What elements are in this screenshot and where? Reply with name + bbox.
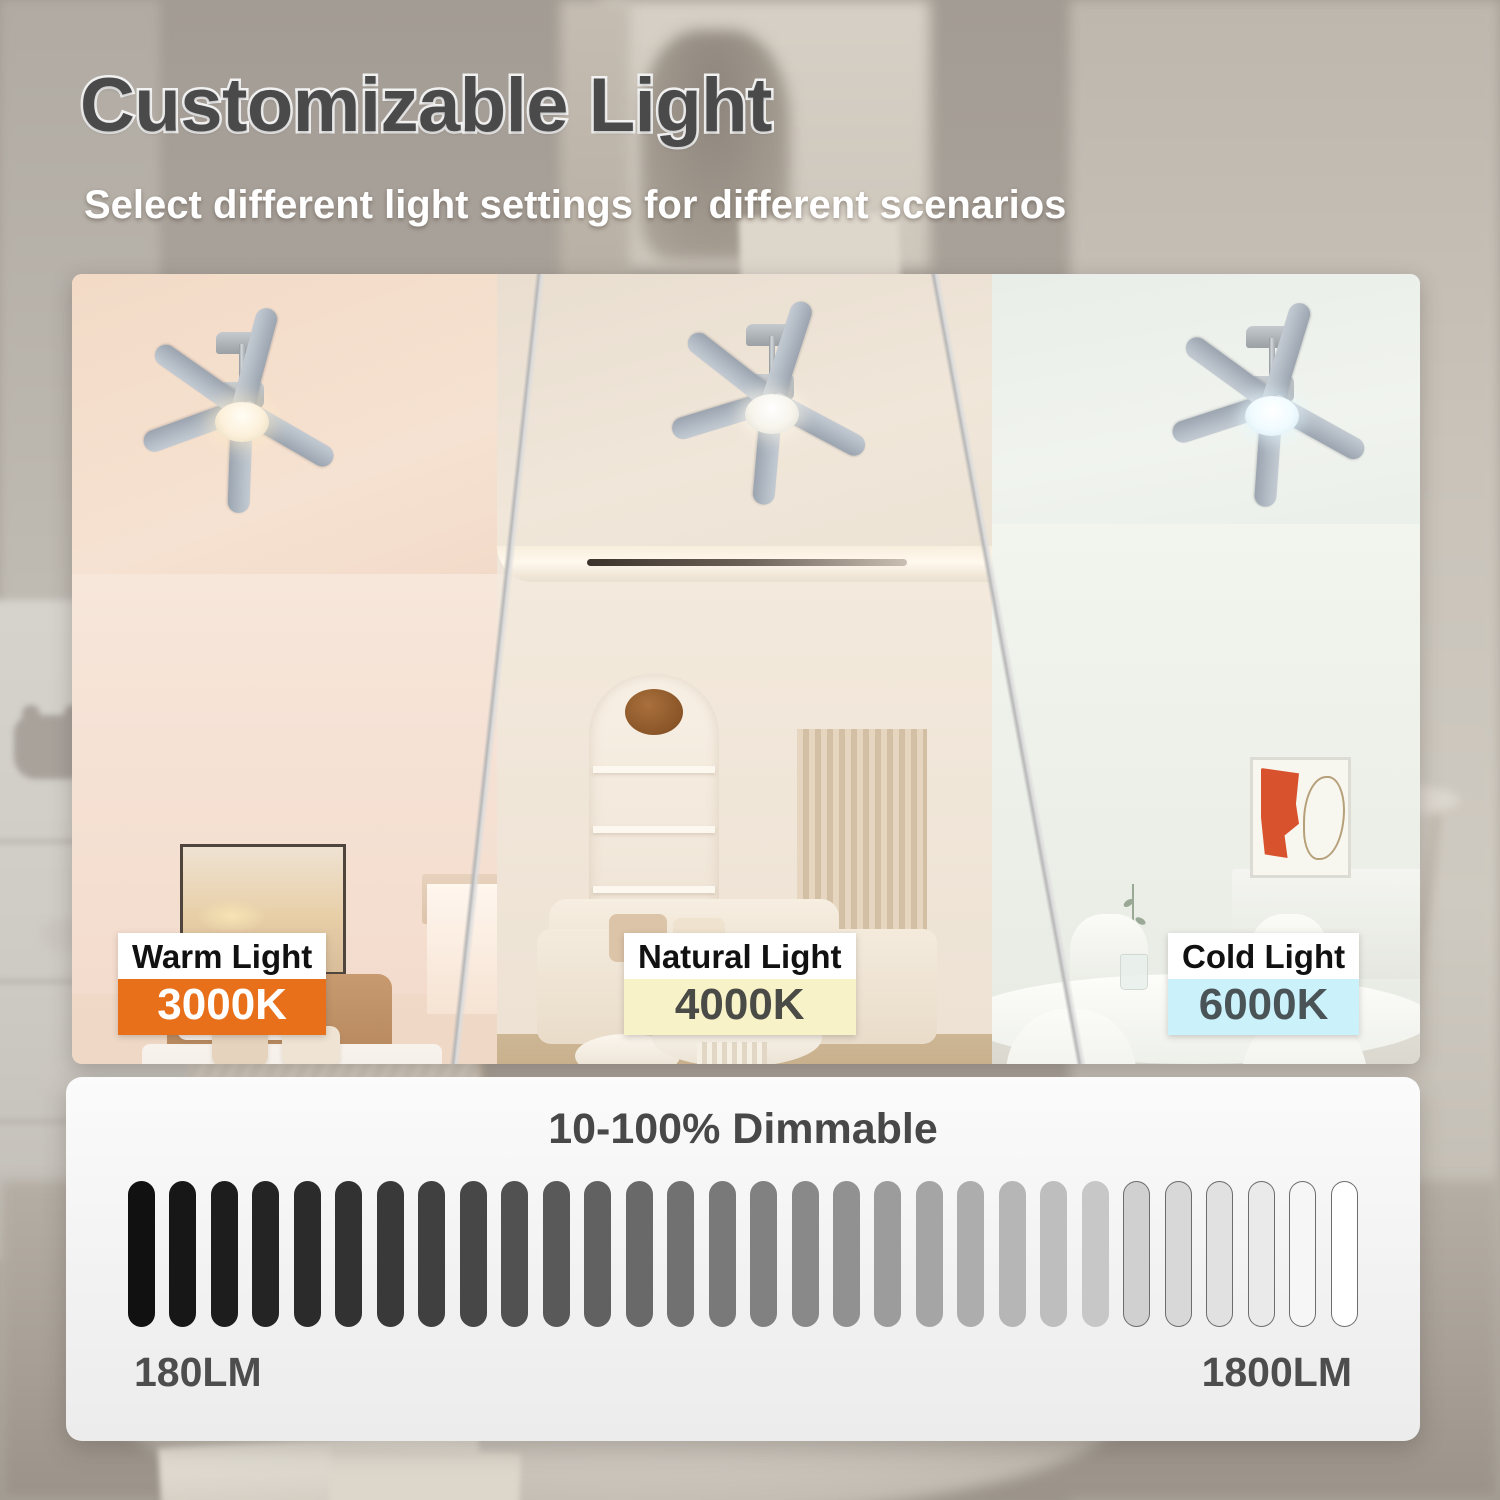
brightness-step-6[interactable] bbox=[335, 1181, 362, 1327]
brightness-step-1[interactable] bbox=[128, 1181, 155, 1327]
dimmable-card: 10-100% Dimmable 180LM 1800LM bbox=[66, 1077, 1420, 1441]
brightness-step-14[interactable] bbox=[667, 1181, 694, 1327]
brightness-step-26[interactable] bbox=[1165, 1181, 1192, 1327]
brightness-step-25[interactable] bbox=[1123, 1181, 1150, 1327]
temp-badge-cold-name: Cold Light bbox=[1168, 933, 1359, 979]
ceiling-fan-cold bbox=[1162, 338, 1382, 468]
brightness-step-27[interactable] bbox=[1206, 1181, 1233, 1327]
lighting-scenes-triptych: Warm Light 3000K Natural Light 4000K Col… bbox=[72, 274, 1420, 1064]
temp-badge-warm-name: Warm Light bbox=[118, 933, 326, 979]
temp-badge-natural-name: Natural Light bbox=[624, 933, 856, 979]
ceiling-fan-natural bbox=[662, 336, 882, 466]
brightness-step-21[interactable] bbox=[957, 1181, 984, 1327]
fan-light-kit bbox=[745, 394, 799, 434]
lumen-min-label: 180LM bbox=[134, 1349, 262, 1396]
backdrop-book-page bbox=[329, 1447, 521, 1500]
brightness-step-18[interactable] bbox=[833, 1181, 860, 1327]
brightness-step-24[interactable] bbox=[1082, 1181, 1109, 1327]
brightness-step-12[interactable] bbox=[584, 1181, 611, 1327]
brightness-step-8[interactable] bbox=[418, 1181, 445, 1327]
lumen-max-label: 1800LM bbox=[1202, 1349, 1352, 1396]
temp-badge-warm: Warm Light 3000K bbox=[118, 933, 326, 1035]
brightness-step-22[interactable] bbox=[999, 1181, 1026, 1327]
cold-framed-artwork bbox=[1250, 757, 1351, 878]
natural-shelf bbox=[593, 826, 715, 833]
natural-wood-disc-decor bbox=[625, 689, 683, 735]
brightness-step-17[interactable] bbox=[792, 1181, 819, 1327]
brightness-step-19[interactable] bbox=[874, 1181, 901, 1327]
page-subtitle: Select different light settings for diff… bbox=[84, 183, 1066, 228]
brightness-step-20[interactable] bbox=[916, 1181, 943, 1327]
brightness-step-28[interactable] bbox=[1248, 1181, 1275, 1327]
cold-glass-vase bbox=[1120, 954, 1148, 990]
dimmable-title: 10-100% Dimmable bbox=[66, 1105, 1420, 1154]
temp-badge-natural: Natural Light 4000K bbox=[624, 933, 856, 1035]
natural-shelf bbox=[593, 886, 715, 893]
page-title: Customizable Light bbox=[80, 62, 772, 149]
natural-track-light bbox=[587, 559, 907, 566]
natural-shelf bbox=[593, 766, 715, 773]
brightness-step-11[interactable] bbox=[543, 1181, 570, 1327]
fan-light-kit bbox=[215, 402, 269, 442]
brightness-step-4[interactable] bbox=[252, 1181, 279, 1327]
natural-table-base bbox=[697, 1042, 767, 1064]
brightness-step-9[interactable] bbox=[460, 1181, 487, 1327]
brightness-step-29[interactable] bbox=[1289, 1181, 1316, 1327]
brightness-step-23[interactable] bbox=[1040, 1181, 1067, 1327]
brightness-step-3[interactable] bbox=[211, 1181, 238, 1327]
brightness-step-10[interactable] bbox=[501, 1181, 528, 1327]
brightness-step-16[interactable] bbox=[750, 1181, 777, 1327]
brightness-step-5[interactable] bbox=[294, 1181, 321, 1327]
brightness-step-2[interactable] bbox=[169, 1181, 196, 1327]
brightness-ramp bbox=[128, 1181, 1358, 1327]
temp-badge-warm-kelvin: 3000K bbox=[118, 979, 326, 1034]
brightness-step-30[interactable] bbox=[1331, 1181, 1358, 1327]
brightness-step-15[interactable] bbox=[709, 1181, 736, 1327]
brightness-step-7[interactable] bbox=[377, 1181, 404, 1327]
brightness-step-13[interactable] bbox=[626, 1181, 653, 1327]
ceiling-fan-warm bbox=[132, 344, 352, 474]
temp-badge-cold-kelvin: 6000K bbox=[1168, 979, 1359, 1034]
cold-art-line-drawing bbox=[1303, 776, 1345, 860]
cold-art-orange-shape bbox=[1261, 768, 1299, 858]
temp-badge-natural-kelvin: 4000K bbox=[624, 979, 856, 1034]
fan-light-kit bbox=[1245, 396, 1299, 436]
temp-badge-cold: Cold Light 6000K bbox=[1168, 933, 1359, 1035]
